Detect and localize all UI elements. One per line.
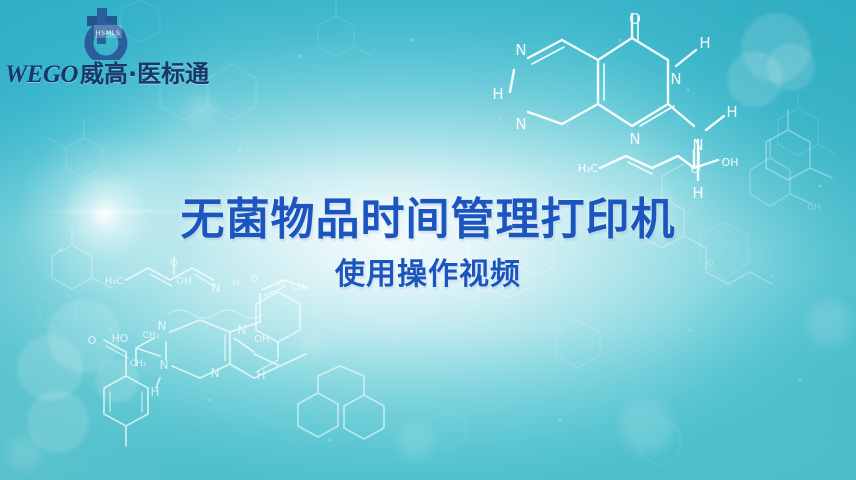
main-title: 无菌物品时间管理打印机	[0, 196, 856, 244]
title-block: 无菌物品时间管理打印机 使用操作视频	[0, 196, 856, 291]
brand-logo: HSMLS WEGO 威高·医标通	[14, 8, 200, 87]
logo-wordmark: WEGO 威高·医标通	[14, 62, 200, 87]
logo-mark-inner-text: HSMLS	[96, 29, 121, 37]
logo-chinese-text: 威高·医标通	[80, 62, 209, 86]
title-card-stage: N N H O N H N N H H H₃C O OH	[0, 0, 856, 480]
logo-latin-text: WEGO	[5, 62, 78, 87]
sub-title: 使用操作视频	[0, 258, 856, 291]
wego-b-cross-logo-icon: HSMLS	[69, 8, 145, 60]
background-bottom-band	[0, 330, 856, 480]
